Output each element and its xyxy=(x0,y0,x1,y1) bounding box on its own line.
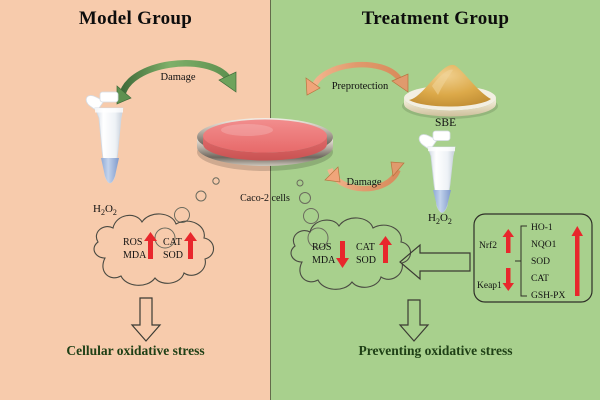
eppendorf-tube-left xyxy=(86,92,123,183)
pathway-regulator-0-label: Nrf2 xyxy=(479,240,497,251)
petri-dish-caco2 xyxy=(197,118,333,171)
pathway-target-3-label: CAT xyxy=(531,274,549,284)
damage-arrow-right-label: Damage xyxy=(347,177,382,188)
keap1-arrow-down xyxy=(503,268,515,291)
cloud-treatment-row1-arrow-up xyxy=(379,236,392,263)
nrf2-arrow-up xyxy=(503,229,515,253)
cloud-treatment-row0-names2: MDA xyxy=(312,255,336,266)
pathway-target-0-label: HO-1 xyxy=(531,223,553,233)
cloud-model-group xyxy=(94,214,213,285)
h2o2-label-left: H2O2 xyxy=(93,203,117,217)
cloud-model-row1-arrow-up xyxy=(184,232,197,259)
preprotection-arrow-label: Preprotection xyxy=(332,81,389,92)
cloud-treatment-row0-arrow-down xyxy=(336,241,349,268)
cloud-model-row1-names: CAT xyxy=(163,237,182,248)
cloud-treatment-row0-names: ROS xyxy=(312,242,331,253)
hollow-arrow-down-right xyxy=(400,300,428,341)
dish-label-caco2: Caco-2 cells xyxy=(240,193,290,204)
pathway-target-2-label: SOD xyxy=(531,257,550,267)
conclusion-model: Cellular oxidative stress xyxy=(0,343,271,359)
cloud-model-row0-names2: MDA xyxy=(123,250,147,261)
pathway-target-1-label: NQO1 xyxy=(531,240,557,250)
pathway-regulator-1-label: Keap1 xyxy=(477,281,502,291)
damage-arrow-left-label: Damage xyxy=(161,72,196,83)
pathway-target-4-label: GSH-PX xyxy=(531,291,565,301)
sbe-powder-dish xyxy=(402,65,498,119)
hollow-arrow-down-left xyxy=(132,298,160,341)
figure-canvas: Model Group Treatment Group xyxy=(0,0,600,400)
targets-arrow-up xyxy=(572,226,584,296)
cloud-treatment-row1-names: CAT xyxy=(356,242,375,253)
eppendorf-tube-right xyxy=(419,131,455,213)
cloud-model-row0-names: ROS xyxy=(123,237,142,248)
cloud-treatment-group xyxy=(291,218,410,289)
h2o2-label-right: H2O2 xyxy=(428,212,452,226)
cloud-model-row1-names2: SOD xyxy=(163,250,183,261)
cloud-treatment-row1-names2: SOD xyxy=(356,255,376,266)
diagram-vector-layer: Damage Caco-2 cells xyxy=(0,0,600,400)
conclusion-treatment: Preventing oxidative stress xyxy=(271,343,600,359)
damage-arrow-left xyxy=(117,63,236,104)
sbe-label: SBE xyxy=(435,117,456,129)
